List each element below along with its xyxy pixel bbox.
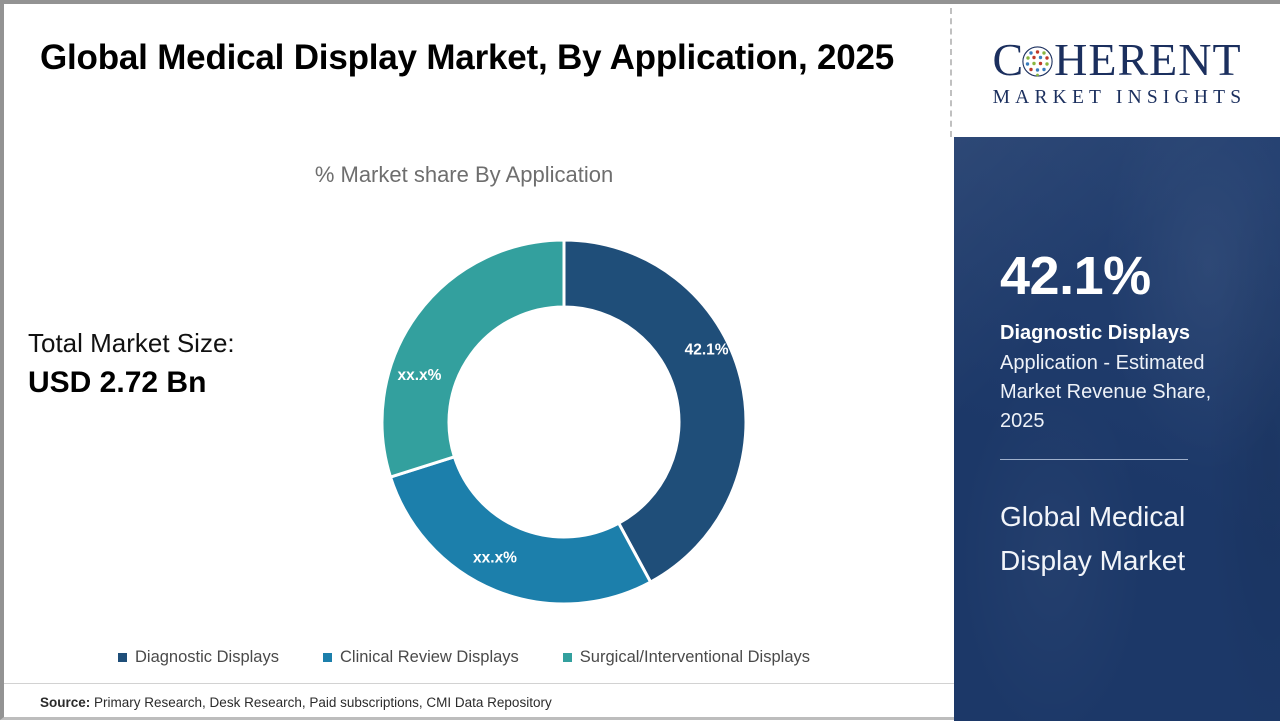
source-note: Source: Primary Research, Desk Research,…	[40, 695, 552, 710]
panel-market-name: Global Medical Display Market	[1000, 495, 1260, 583]
source-prefix: Source:	[40, 695, 90, 710]
total-market-size-label: Total Market Size:	[28, 328, 235, 359]
logo-letter-c: C	[992, 37, 1024, 83]
stat-segment-name: Diagnostic Displays	[1000, 322, 1190, 345]
legend-swatch-icon	[563, 653, 572, 662]
total-market-size-value: USD 2.72 Bn	[28, 366, 206, 400]
infographic-root: Global Medical Display Market, By Applic…	[0, 0, 1280, 720]
donut-slice-label: 42.1%	[685, 341, 729, 358]
donut-chart: 42.1%xx.x%xx.x%	[376, 234, 752, 610]
donut-chart-svg: 42.1%xx.x%xx.x%	[376, 234, 752, 610]
stat-number: 42.1%	[1000, 249, 1151, 303]
chart-subtitle: % Market share By Application	[4, 162, 924, 188]
donut-slice[interactable]	[564, 240, 746, 582]
legend-item-surgical-interventional-displays[interactable]: Surgical/Interventional Displays	[563, 648, 810, 667]
donut-slice-label: xx.x%	[397, 367, 441, 384]
legend-swatch-icon	[118, 653, 127, 662]
panel-divider	[1000, 459, 1188, 460]
globe-dotted-icon	[1022, 46, 1053, 77]
chart-legend: Diagnostic Displays Clinical Review Disp…	[4, 648, 924, 667]
donut-slice[interactable]	[391, 457, 651, 604]
page-title: Global Medical Display Market, By Applic…	[40, 32, 900, 83]
logo-wordmark: C	[992, 37, 1241, 83]
vertical-dashed-divider	[950, 8, 952, 137]
legend-swatch-icon	[323, 653, 332, 662]
stat-description: Application - Estimated Market Revenue S…	[1000, 349, 1245, 436]
legend-label: Surgical/Interventional Displays	[580, 648, 810, 667]
source-text: Primary Research, Desk Research, Paid su…	[94, 695, 552, 710]
highlight-side-panel: 42.1% Diagnostic Displays Application - …	[954, 137, 1280, 721]
legend-label: Diagnostic Displays	[135, 648, 279, 667]
donut-slice[interactable]	[382, 240, 564, 477]
brand-logo[interactable]: C	[954, 8, 1280, 137]
main-content-area: Global Medical Display Market, By Applic…	[4, 4, 948, 717]
legend-item-diagnostic-displays[interactable]: Diagnostic Displays	[118, 648, 279, 667]
legend-label: Clinical Review Displays	[340, 648, 519, 667]
legend-item-clinical-review-displays[interactable]: Clinical Review Displays	[323, 648, 519, 667]
donut-slice-label: xx.x%	[473, 549, 517, 566]
logo-subtitle: MARKET INSIGHTS	[988, 87, 1247, 109]
logo-wordmark-rest: HERENT	[1054, 37, 1241, 83]
